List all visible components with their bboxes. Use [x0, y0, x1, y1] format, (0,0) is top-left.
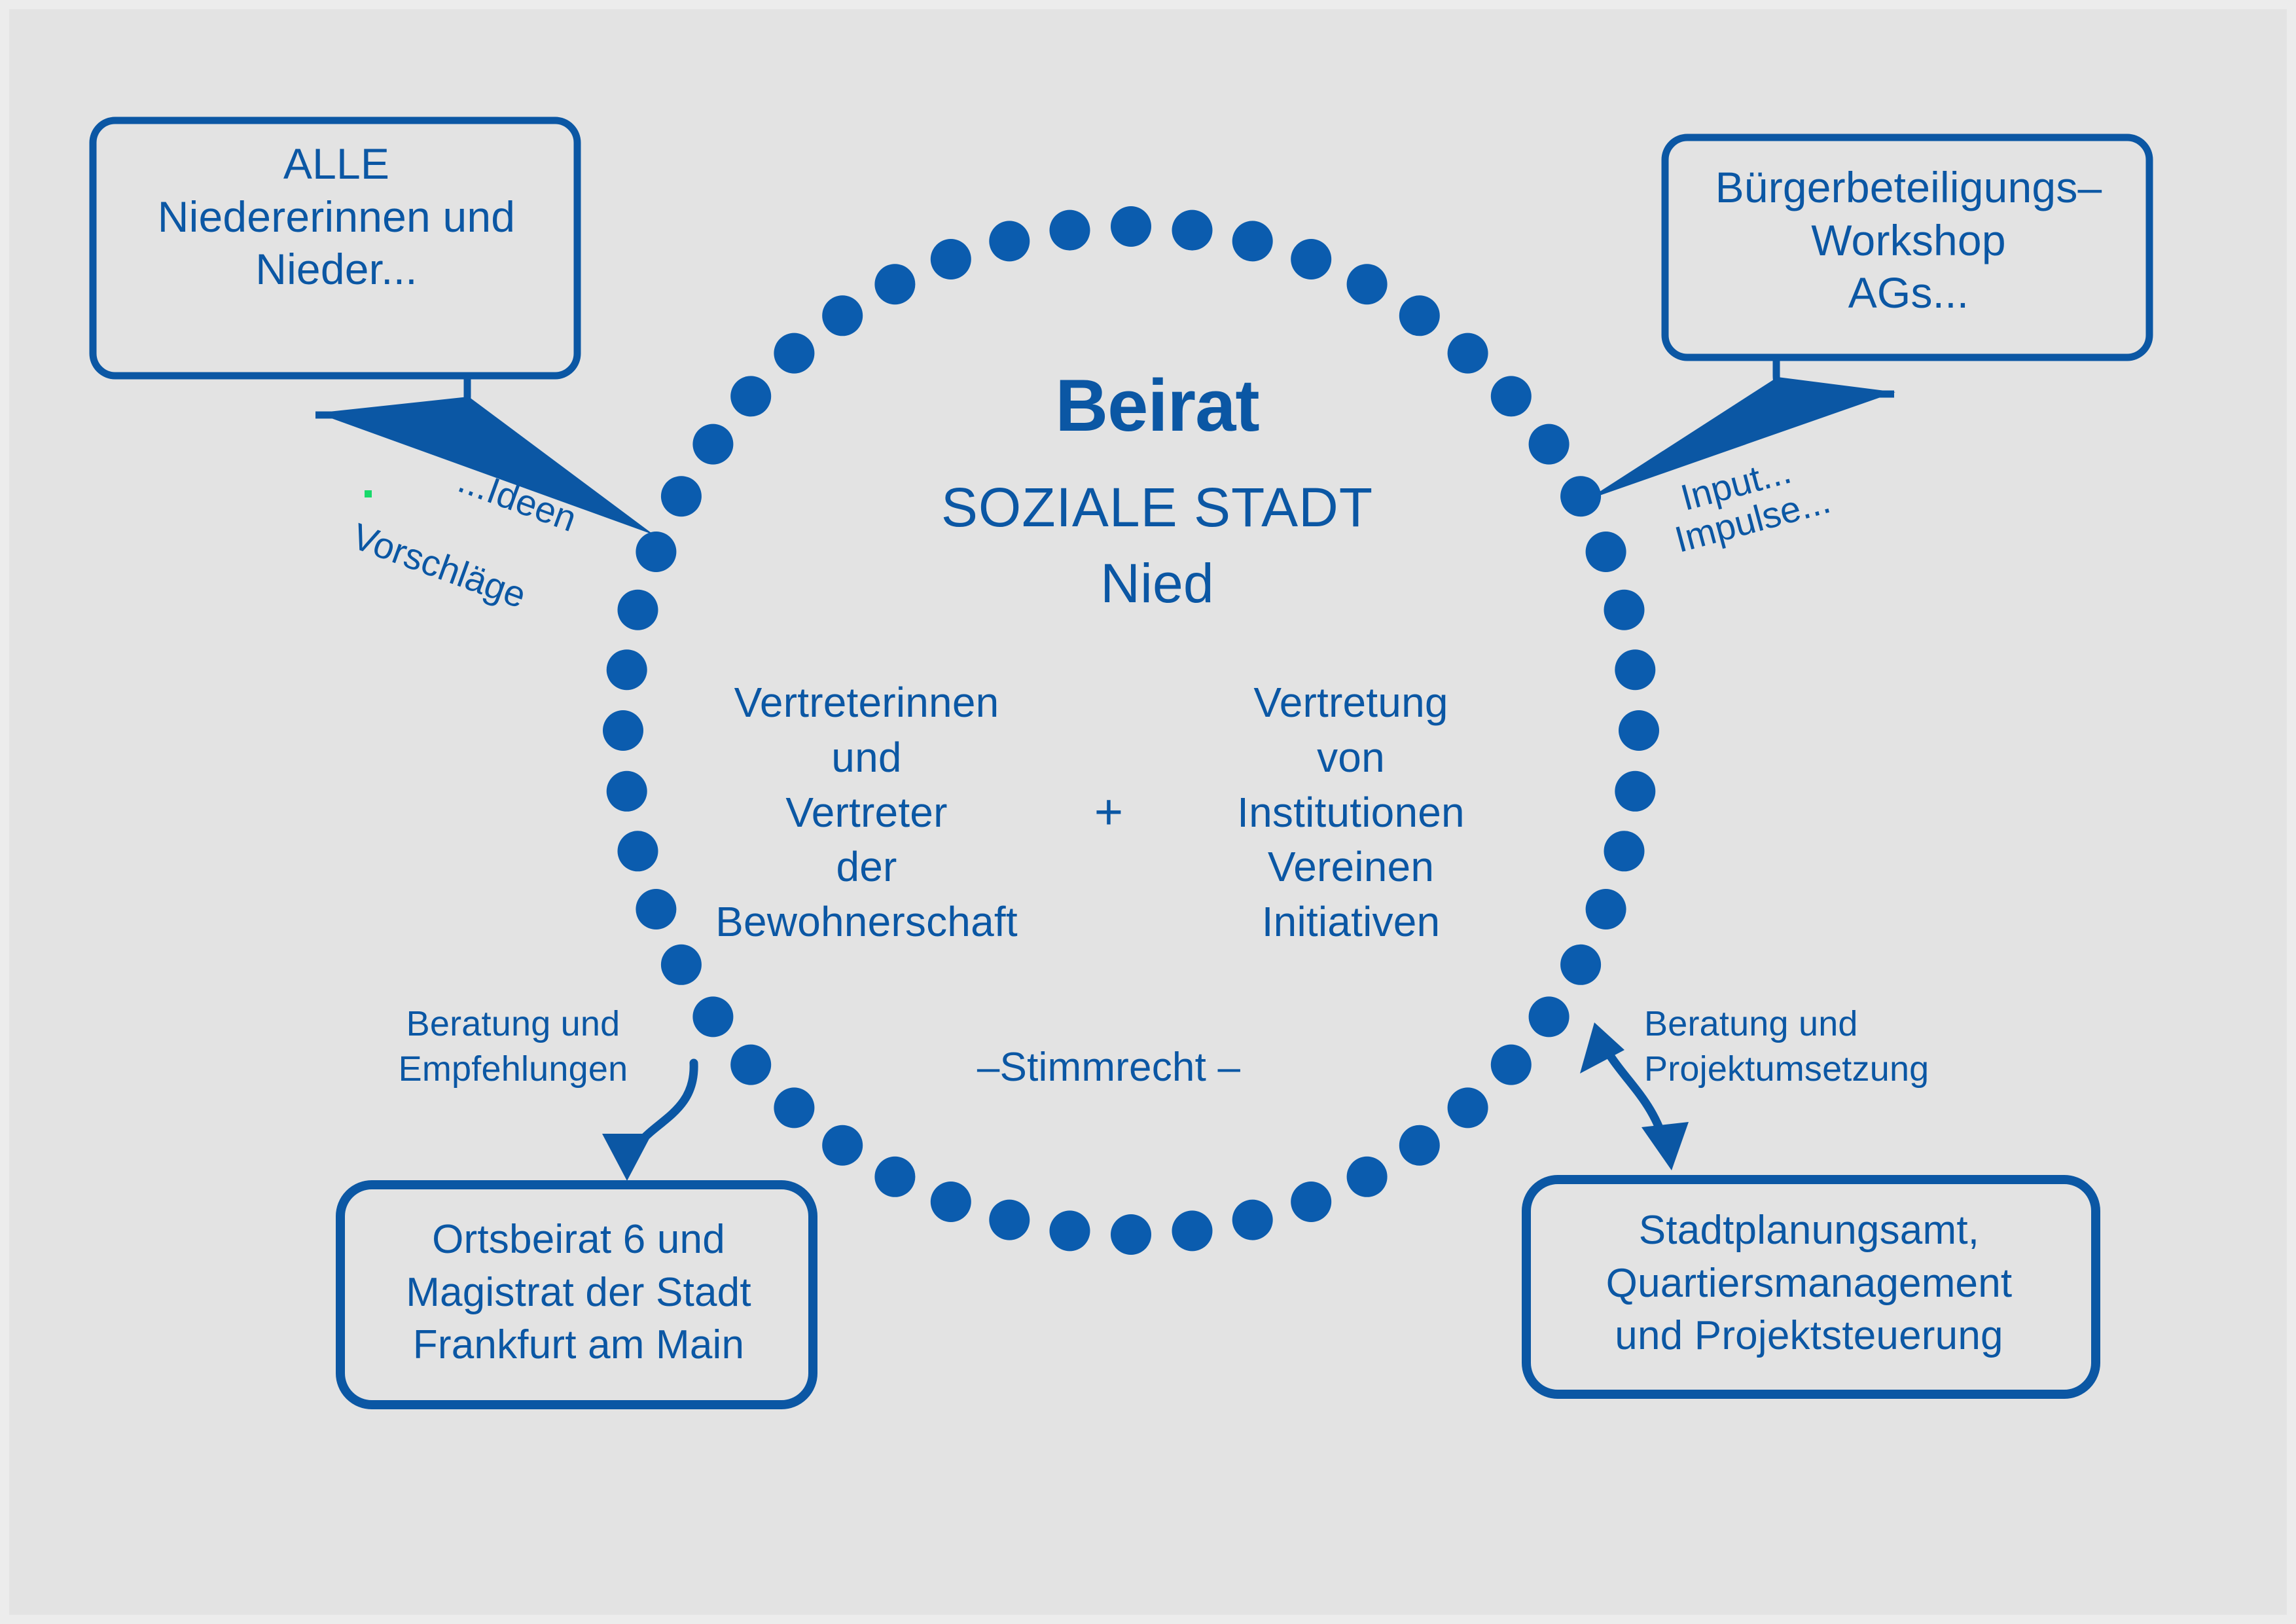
ring-dot [730, 376, 771, 416]
ring-dot [1111, 1214, 1151, 1255]
ring-dot [989, 221, 1030, 261]
ring-dot [1615, 771, 1655, 812]
diagram-canvas: ALLE Niedererinnen und Nieder... Bürgerb… [0, 0, 2296, 1624]
ring-dot [1172, 1210, 1213, 1251]
ring-dot [1111, 206, 1151, 247]
ring-dot [1491, 1045, 1532, 1085]
ring-dot [1399, 295, 1440, 336]
green-pixel-artifact [365, 490, 372, 497]
ring-dot [692, 424, 733, 465]
ring-dot [822, 295, 863, 336]
ring-dot [1448, 1087, 1488, 1128]
ring-dot [661, 945, 702, 985]
ring-dot [1399, 1125, 1440, 1166]
plus-operator: + [1069, 783, 1148, 842]
ring-dot [1529, 424, 1570, 465]
ring-dot [636, 889, 676, 929]
ring-dot [1291, 239, 1331, 280]
annotation-beratung-empfehlungen: Beratung und Empfehlungen [376, 1001, 651, 1092]
ring-dot [607, 771, 647, 812]
speech-bubble-left-label: ALLE Niedererinnen und Nieder... [107, 137, 565, 296]
ring-dot [692, 996, 733, 1037]
ring-dot [1291, 1182, 1331, 1222]
annotation-beratung-projektumsetzung: Beratung und Projektumsetzung [1644, 1001, 1971, 1092]
ring-dot [618, 831, 658, 871]
ring-dot [1172, 210, 1213, 251]
ring-dot [730, 1045, 771, 1085]
ring-dot [618, 590, 658, 630]
ring-dot [1604, 590, 1645, 630]
ring-dot [636, 532, 676, 572]
ring-dot [989, 1200, 1030, 1240]
ring-dot [774, 333, 814, 374]
page-title: Beirat [830, 363, 1484, 449]
stimmrecht-note: –Stimmrecht – [939, 1043, 1279, 1091]
ring-dot [1619, 710, 1659, 751]
ring-dot [822, 1125, 863, 1166]
ring-dot [874, 1157, 915, 1197]
ring-dot [1560, 476, 1601, 516]
ring-dot [874, 264, 915, 304]
ring-dot [1347, 264, 1388, 304]
ring-dot [1232, 221, 1273, 261]
ortsbeirat-box-label: Ortsbeirat 6 und Magistrat der Stadt Fra… [356, 1214, 801, 1372]
circle-subtitle-line1: SOZIALE STADT [830, 475, 1484, 540]
ring-dot [1529, 996, 1570, 1037]
ring-dot [1491, 376, 1532, 416]
circle-column-right: Vertretung von Institutionen Vereinen In… [1187, 676, 1515, 950]
ring-dot [1347, 1157, 1388, 1197]
ring-dot [1604, 831, 1645, 871]
ring-dot [603, 710, 643, 751]
speech-bubble-right-label: Bürgerbeteiligungs– Workshop AGs... [1679, 161, 2138, 319]
ring-dot [774, 1087, 814, 1128]
arrow-left-head [602, 1134, 652, 1181]
stadtplanungsamt-box-label: Stadtplanungsamt, Quartiersmanagement un… [1541, 1204, 2077, 1363]
ring-dot [1615, 649, 1655, 690]
ring-dot [1050, 210, 1090, 251]
circle-subtitle-line2: Nied [830, 551, 1484, 616]
ring-dot [1050, 1210, 1090, 1251]
arrow-right-head-down [1641, 1122, 1689, 1170]
ring-dot [931, 1182, 971, 1222]
ring-dot [1560, 945, 1601, 985]
ring-dot [1586, 889, 1626, 929]
ring-dot [661, 476, 702, 516]
ring-dot [1232, 1200, 1273, 1240]
ring-dot [607, 649, 647, 690]
ring-dot [1586, 532, 1626, 572]
ring-dot [931, 239, 971, 280]
circle-column-left: Vertreterinnen und Vertreter der Bewohne… [703, 676, 1030, 950]
